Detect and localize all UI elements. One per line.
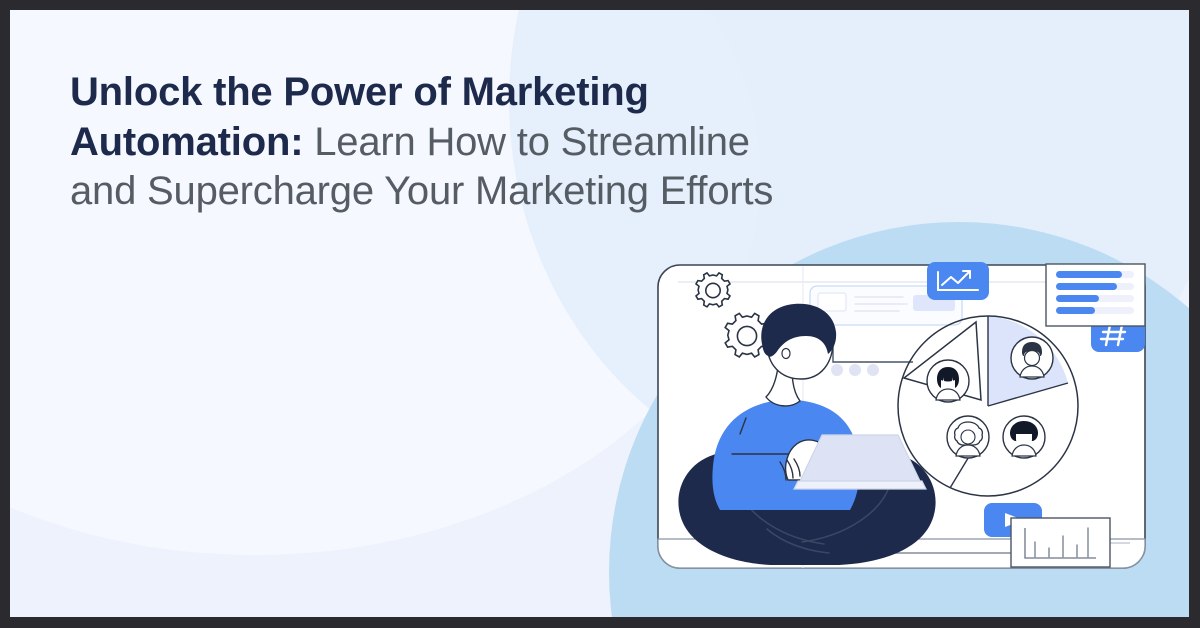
bar-chart-card bbox=[1011, 518, 1110, 567]
banner-canvas: Unlock the Power of Marketing Automation… bbox=[10, 10, 1189, 617]
laptop-base bbox=[794, 481, 926, 489]
avatar-afro-hair-icon bbox=[1003, 416, 1045, 458]
progress-bar-1 bbox=[1056, 271, 1122, 278]
person-ear bbox=[782, 349, 790, 359]
progress-bar-4 bbox=[1056, 307, 1095, 314]
screen-dots bbox=[831, 364, 879, 376]
avatar-curly-hair-icon bbox=[947, 416, 989, 458]
avatar-long-hair-icon bbox=[927, 360, 969, 402]
trend-chart-badge[interactable] bbox=[927, 262, 989, 300]
progress-bar-2 bbox=[1056, 283, 1117, 290]
hero-illustration bbox=[10, 10, 1189, 617]
banner-frame: Unlock the Power of Marketing Automation… bbox=[0, 0, 1200, 628]
stats-card bbox=[1046, 264, 1145, 326]
avatar-short-hair-icon bbox=[1011, 337, 1053, 379]
progress-bar-3 bbox=[1056, 295, 1099, 302]
